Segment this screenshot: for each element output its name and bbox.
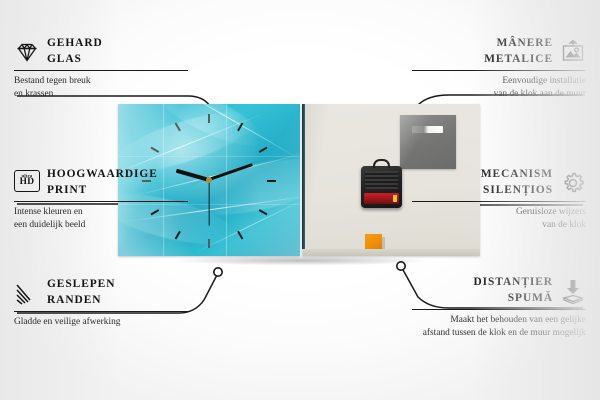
feature-distantier-spuma: DISTANȚIER SPUMĂ Maakt het behouden van … [386, 275, 586, 339]
divider [412, 309, 586, 310]
feature-header: MÂNERE METALICE [386, 36, 586, 67]
gear-icon [560, 170, 586, 196]
feature-description: Bestand tegen breuk en krassen [14, 75, 214, 100]
feature-gehard-glas: GEHARD GLAS Bestand tegen breuk en krass… [14, 36, 214, 100]
feature-manere-metalice: MÂNERE METALICE Eenvoudige installatie v… [386, 36, 586, 100]
feature-title: GESLEPEN RANDEN [47, 277, 115, 308]
feature-mecanism-silentios: MECANISM SILENȚIOS Geruisloze wijzers va… [386, 167, 586, 231]
feature-header: DISTANȚIER SPUMĂ [386, 275, 586, 306]
feature-title: DISTANȚIER SPUMĂ [473, 275, 553, 306]
glass-edge [302, 104, 305, 256]
feature-geslepen-randen: GESLEPEN RANDEN Gladde en veilige afwerk… [14, 277, 214, 329]
feature-description: Geruisloze wijzers van de klok [386, 206, 586, 231]
hanger-keyhole-slot [412, 126, 443, 133]
bevelled-edges-icon [14, 280, 40, 306]
divider [14, 70, 188, 71]
feature-description: Intense kleuren en een duidelijk beeld [14, 206, 214, 231]
feature-title: MECANISM SILENȚIOS [481, 167, 553, 198]
diamond-icon [14, 39, 40, 65]
feature-header: GEHARD GLAS [14, 36, 214, 67]
feature-title: GEHARD GLAS [47, 36, 103, 67]
infographic-canvas: GEHARD GLAS Bestand tegen breuk en krass… [0, 0, 600, 400]
feature-title: HOOGWAARDIGE PRINT [47, 167, 158, 198]
feature-description: Gladde en veilige afwerking [14, 316, 214, 328]
feature-header: MECANISM SILENȚIOS [386, 167, 586, 198]
foam-spacer [365, 234, 382, 250]
metal-hanger-plate [400, 115, 456, 169]
feature-description: Eenvoudige installatie van de klok aan d… [386, 75, 586, 100]
feature-description: Maakt het behouden van een gelijke afsta… [386, 314, 586, 339]
feature-title: MÂNERE METALICE [484, 36, 553, 67]
divider [412, 70, 586, 71]
divider [14, 201, 188, 202]
feature-header: ultra HD HOOGWAARDIGE PRINT [14, 167, 214, 198]
ultra-hd-icon: ultra HD [14, 170, 40, 196]
back-panel-base-edge [302, 249, 480, 256]
picture-hanger-icon [560, 39, 586, 65]
foam-spacer-icon [560, 278, 586, 304]
connector-dot-geslepen-randen [214, 268, 222, 276]
feature-header: GESLEPEN RANDEN [14, 277, 214, 308]
ultra-hd-icon-main-label: HD [20, 178, 35, 187]
divider [14, 311, 188, 312]
divider [412, 201, 586, 202]
feature-hoogwaardige-print: ultra HD HOOGWAARDIGE PRINT Intense kleu… [14, 167, 214, 231]
clock-minute-hand [208, 163, 253, 181]
